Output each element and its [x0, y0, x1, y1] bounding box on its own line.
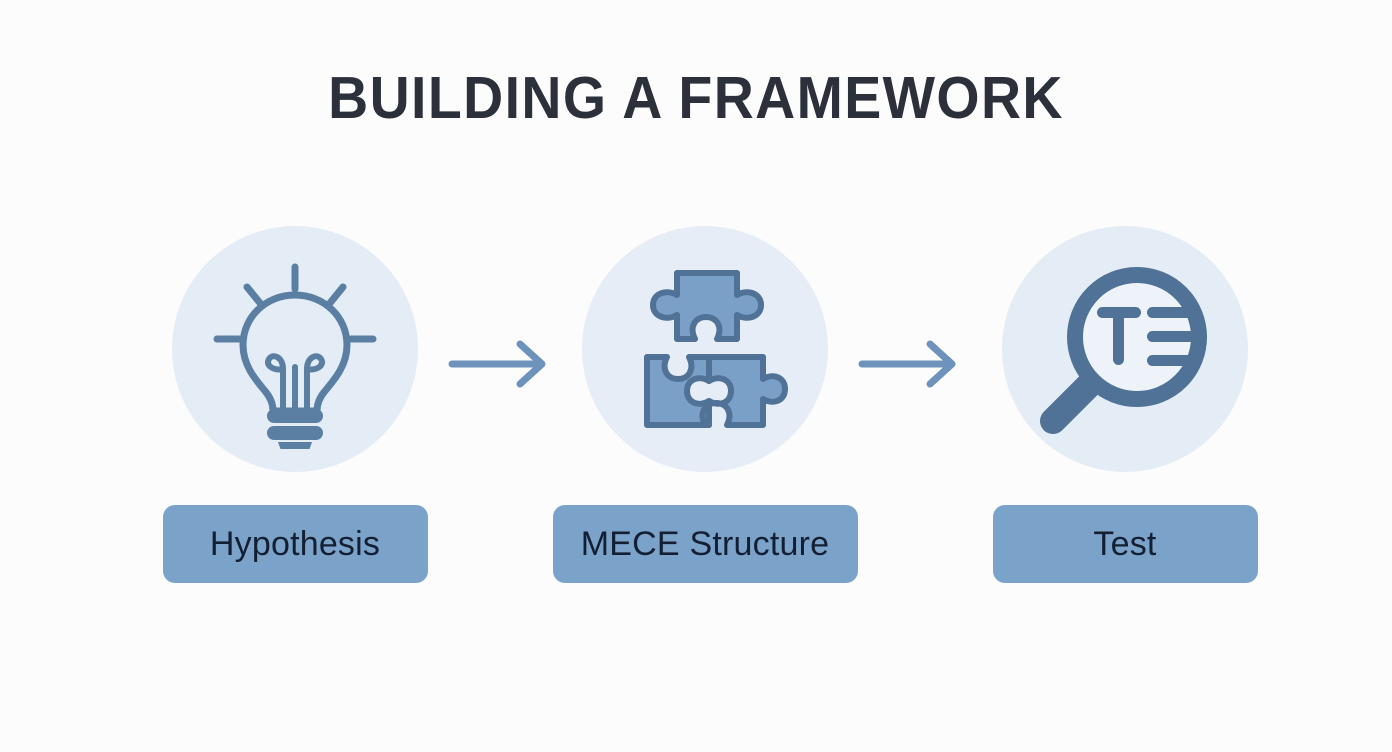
arrow-right-icon — [858, 338, 968, 390]
puzzle-pieces-icon — [605, 249, 805, 449]
step-test[interactable]: Test — [995, 226, 1255, 583]
step-label-hypothesis: Hypothesis — [163, 505, 428, 583]
step-icon-container-mece — [582, 226, 828, 472]
step-icon-container-test — [1002, 226, 1248, 472]
framework-diagram: BUILDING A FRAMEWORK — [0, 0, 1392, 752]
steps-row: Hypothesis — [0, 0, 1392, 752]
lightbulb-icon — [195, 249, 395, 449]
step-hypothesis[interactable]: Hypothesis — [165, 226, 425, 583]
connector-arrow-2 — [858, 338, 968, 390]
step-label-mece-structure: MECE Structure — [553, 505, 858, 583]
step-mece-structure[interactable]: MECE Structure — [575, 226, 835, 583]
arrow-right-icon — [448, 338, 558, 390]
connector-arrow-1 — [448, 338, 558, 390]
magnifying-glass-text-icon — [1025, 249, 1225, 449]
step-label-test: Test — [993, 505, 1258, 583]
step-icon-container-hypothesis — [172, 226, 418, 472]
